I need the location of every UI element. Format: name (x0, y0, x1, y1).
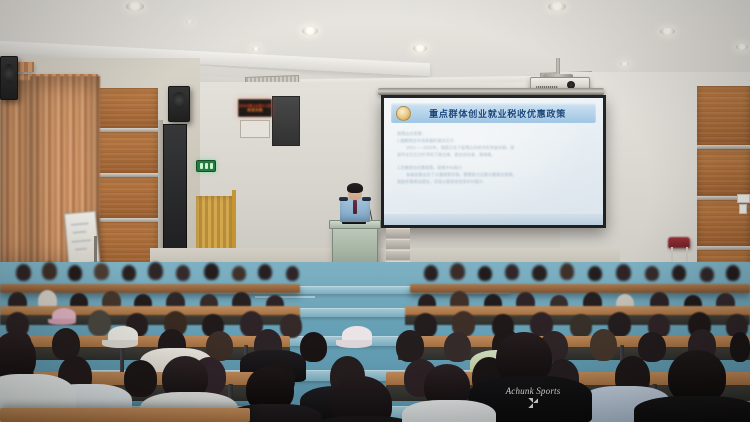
downlight-icon (302, 27, 318, 35)
tax-bureau-emblem-icon (396, 106, 411, 121)
downlight-icon (736, 44, 748, 50)
slide-line: 鼓励多策帮扶就业，实现从脱贫攻坚到乡村振兴 (397, 178, 590, 185)
window-curtain (0, 80, 32, 276)
speaker-epaulette (362, 197, 371, 201)
exit-glyph (210, 163, 213, 169)
led-line-2: 欢迎光临 (247, 108, 263, 112)
jacket-logo-emblem-icon (528, 398, 538, 408)
stage-step (386, 239, 410, 249)
slide-line: 2.完善就业优惠政策，助推乡村振兴 (397, 164, 590, 171)
speaker-epaulette (339, 197, 348, 201)
lecture-hall-photo: 2024年10月11日 欢迎光临 重点群体创业就业税收优惠政策 政策出台背景： … (0, 0, 750, 422)
easel-marking (75, 248, 87, 251)
easel-marking (71, 222, 89, 225)
jacket-logo-text: Achunk Sports (497, 386, 569, 396)
slide-line: 2021——2022年，我国正处于疫情后的经济形势复杂期，高 (397, 144, 590, 151)
easel-marking (72, 231, 86, 234)
screen-roller-housing (378, 88, 604, 95)
wall-mounted-loudspeaker (168, 86, 190, 122)
wood-wall-panel (96, 177, 158, 221)
door-opening[interactable] (272, 96, 300, 146)
projection-screen: 重点群体创业就业税收优惠政策 政策出台背景： 1.缓解就业市场发展的就业压力 2… (384, 98, 603, 225)
wood-wall-panel (697, 149, 750, 199)
downlight-icon (620, 62, 629, 66)
audience-torso (402, 400, 496, 422)
slide-line: 各级部委出台了大量政策举措，需要助力边缘分散就业困难， (397, 171, 590, 178)
downlight-icon (186, 20, 193, 24)
slide-footer-band (384, 214, 603, 225)
slide-line: 校毕业生压力升学的了就业难、就业创业难、落地难。 (397, 151, 590, 158)
stage-step (386, 228, 410, 238)
slide-line: 政策出台背景： (397, 130, 590, 137)
slide-title-bar: 重点群体创业就业税收优惠政策 (391, 103, 597, 123)
exit-glyph (205, 163, 208, 169)
downlight-icon (252, 47, 260, 51)
downlight-icon (660, 28, 675, 35)
desk-surface (0, 408, 250, 422)
emergency-exit-sign (196, 160, 216, 172)
wall-switch-plate (739, 204, 747, 214)
wall-notice (737, 194, 750, 203)
audience-torso (634, 396, 750, 422)
led-notice-display: 2024年10月11日 欢迎光临 (238, 99, 272, 117)
speaker-hair (347, 183, 363, 193)
wall-notice-plate (240, 120, 270, 138)
exit-glyph (200, 163, 203, 169)
slide-body-text: 政策出台背景： 1.缓解就业市场发展的就业压力 2021——2022年，我国正处… (397, 130, 590, 219)
wood-wall-panel (96, 132, 158, 176)
speaker-necktie (353, 200, 357, 214)
easel-marking (71, 239, 91, 242)
wood-wall-panel (697, 86, 750, 148)
wall-mounted-loudspeaker (0, 56, 18, 100)
downlight-icon (126, 2, 144, 11)
wood-wall-panel (96, 88, 158, 130)
downlight-icon (413, 45, 427, 52)
slide-title: 重点群体创业就业税收优惠政策 (411, 106, 597, 120)
downlight-icon (548, 2, 566, 11)
projection-screen-frame: 重点群体创业就业税收优惠政策 政策出台背景： 1.缓解就业市场发展的就业压力 2… (381, 95, 606, 228)
slide-line: 1.缓解就业市场发展的就业压力 (397, 137, 590, 144)
